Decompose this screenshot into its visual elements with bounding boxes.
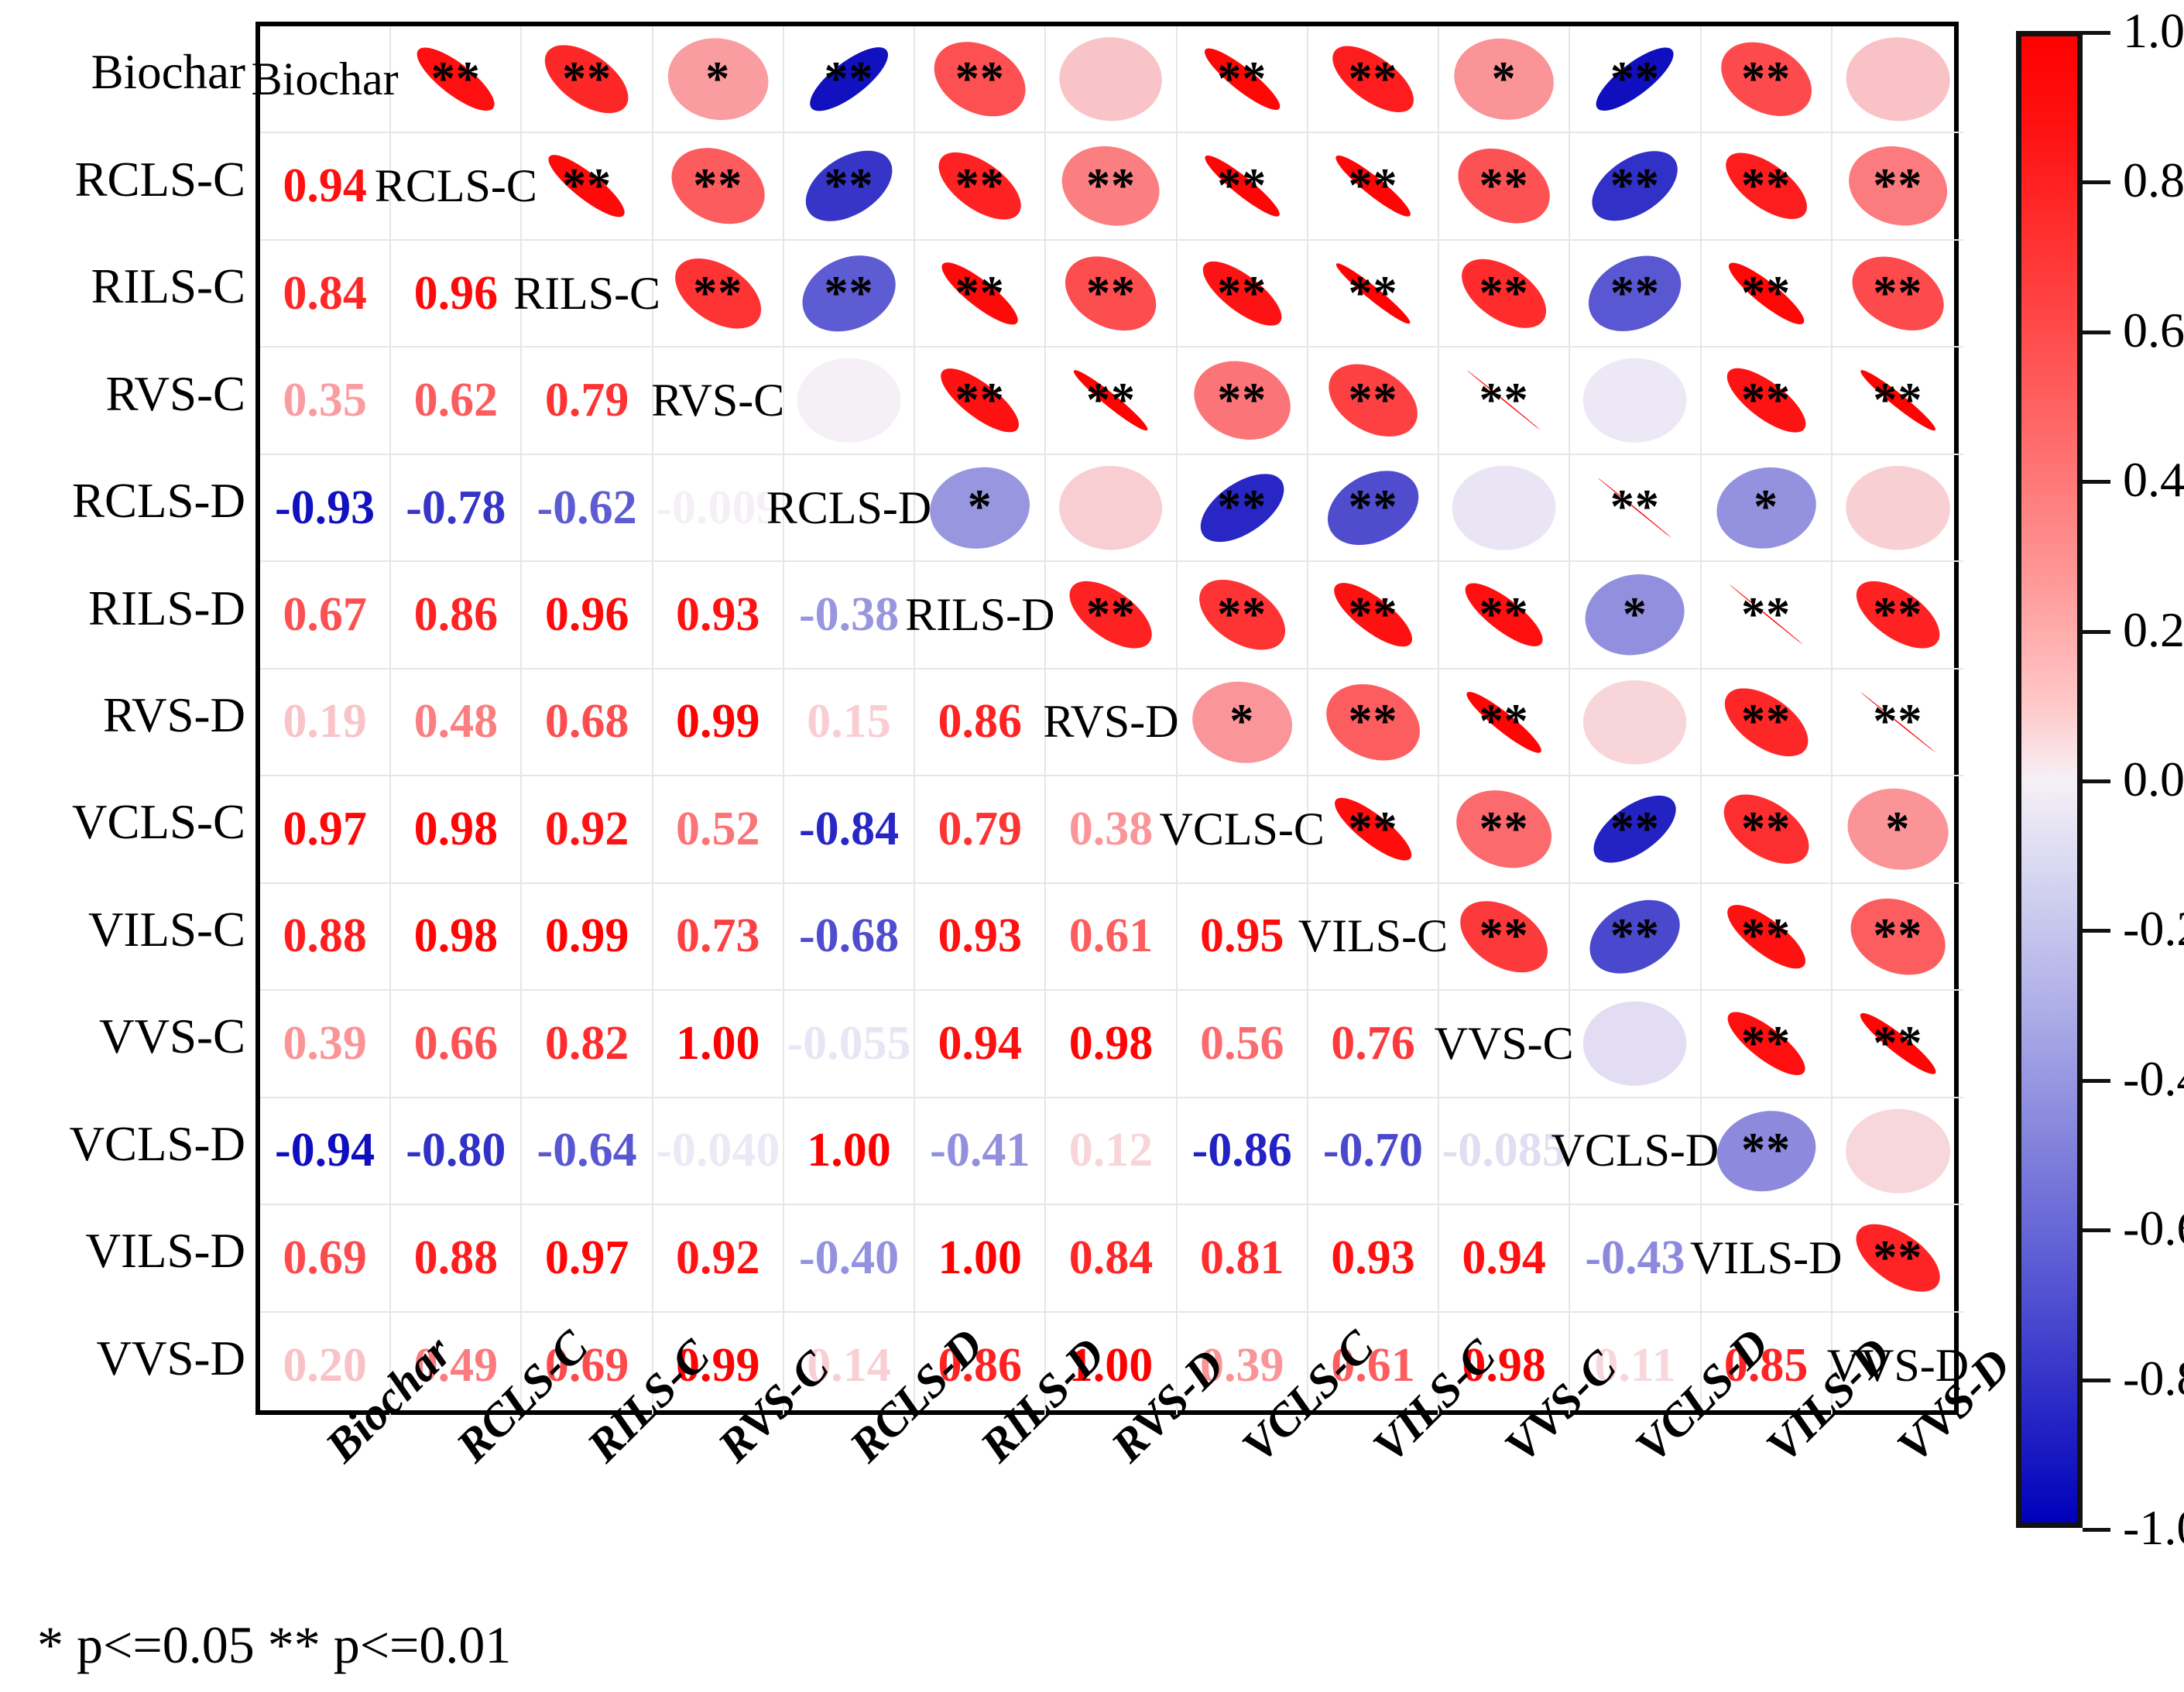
value-cell: 0.96 xyxy=(391,241,522,348)
significance-stars: ** xyxy=(1741,601,1791,629)
ellipse-cell xyxy=(784,348,915,454)
correlation-value: 0.97 xyxy=(283,802,367,857)
colorbar-tick-mark xyxy=(2083,1228,2110,1232)
value-cell: 0.15 xyxy=(784,670,915,776)
correlation-value: 0.73 xyxy=(676,909,760,964)
ellipse-cell: ** xyxy=(1439,884,1570,991)
correlation-value: 0.66 xyxy=(414,1016,499,1071)
value-cell: 0.84 xyxy=(1046,1205,1177,1312)
value-cell: -0.68 xyxy=(784,884,915,991)
significance-stars: ** xyxy=(1873,172,1922,200)
value-cell: 0.94 xyxy=(915,991,1046,1098)
ellipse-cell: ** xyxy=(915,26,1046,133)
correlation-value: -0.40 xyxy=(799,1231,899,1286)
ellipse-cell: ** xyxy=(1833,670,1963,776)
correlation-value: 0.92 xyxy=(676,1231,760,1286)
value-cell: -0.80 xyxy=(391,1098,522,1205)
ellipse-cell: ** xyxy=(1833,1205,1963,1312)
correlation-value: -0.62 xyxy=(537,481,636,536)
correlation-ellipse xyxy=(1570,348,1699,453)
value-cell: -0.38 xyxy=(784,562,915,669)
row-label-rils-d: RILS-D xyxy=(88,584,245,633)
value-cell: 0.84 xyxy=(260,241,391,348)
value-cell: -0.055 xyxy=(784,991,915,1098)
significance-stars: ** xyxy=(1217,65,1267,94)
ellipse-cell: ** xyxy=(1178,455,1308,562)
diagonal-label: VCLS-C xyxy=(1160,803,1325,856)
diagonal-label: VILS-C xyxy=(1298,909,1448,963)
row-label-rvs-d: RVS-D xyxy=(103,691,245,740)
significance-stars: ** xyxy=(1610,815,1660,844)
value-cell: -0.93 xyxy=(260,455,391,562)
correlation-value: 0.48 xyxy=(414,694,499,749)
colorbar-tick-label: -0.8 xyxy=(2123,1350,2184,1407)
correlation-value: 0.88 xyxy=(414,1231,499,1286)
correlation-ellipse xyxy=(1833,26,1963,132)
ellipse-cell: ** xyxy=(1833,991,1963,1098)
ellipse-cell xyxy=(1046,26,1177,133)
colorbar-tick-label: -0.4 xyxy=(2123,1050,2184,1108)
ellipse-cell: ** xyxy=(1439,776,1570,883)
ellipse-cell: ** xyxy=(784,26,915,133)
value-cell: 0.94 xyxy=(260,133,391,240)
correlation-value: 0.96 xyxy=(545,587,629,642)
ellipse-cell: ** xyxy=(1702,241,1833,348)
ellipse-cell: ** xyxy=(1308,776,1439,883)
ellipse-cell: ** xyxy=(784,241,915,348)
colorbar-tick-label: 0.4 xyxy=(2123,451,2184,509)
value-cell: 0.56 xyxy=(1178,991,1308,1098)
value-cell: 0.35 xyxy=(260,348,391,454)
ellipse-cell: ** xyxy=(1439,241,1570,348)
ellipse-cell: ** xyxy=(1702,1098,1833,1205)
ellipse-cell: * xyxy=(1178,670,1308,776)
ellipse-cell: ** xyxy=(1178,133,1308,240)
value-cell: 0.98 xyxy=(391,776,522,883)
correlation-value: 0.69 xyxy=(283,1231,367,1286)
correlation-value: 0.86 xyxy=(938,694,1023,749)
ellipse-cell: * xyxy=(1833,776,1963,883)
ellipse-cell: ** xyxy=(1308,133,1439,240)
value-cell: 0.92 xyxy=(653,1205,784,1312)
significance-stars: ** xyxy=(1741,65,1791,94)
value-cell: 0.98 xyxy=(391,884,522,991)
significance-stars: ** xyxy=(1479,172,1529,200)
correlation-value: 0.61 xyxy=(1069,909,1154,964)
value-cell: 0.73 xyxy=(653,884,784,991)
correlation-matrix-plot: Biochar******************0.94RCLS-C*****… xyxy=(255,22,1959,1415)
ellipse-cell: ** xyxy=(915,348,1046,454)
value-cell: 0.79 xyxy=(522,348,653,454)
correlation-value: -0.009 xyxy=(656,481,780,536)
correlation-value: 0.92 xyxy=(545,802,629,857)
correlation-value: 0.93 xyxy=(1331,1231,1415,1286)
significance-stars: ** xyxy=(1348,65,1397,94)
ellipse-cell: ** xyxy=(1046,348,1177,454)
correlation-value: 0.67 xyxy=(283,587,367,642)
significance-stars: ** xyxy=(1873,279,1922,308)
correlation-value: 0.52 xyxy=(676,802,760,857)
significance-stars: ** xyxy=(1873,1244,1922,1272)
ellipse-cell: ** xyxy=(1570,26,1701,133)
correlation-matrix-figure: BiocharRCLS-CRILS-CRVS-CRCLS-DRILS-DRVS-… xyxy=(0,0,2184,1692)
correlation-value: 0.35 xyxy=(283,373,367,428)
value-cell: 0.92 xyxy=(522,776,653,883)
correlation-ellipse xyxy=(1439,455,1569,560)
ellipse-cell xyxy=(1833,1098,1963,1205)
matrix-cell-grid: Biochar******************0.94RCLS-C*****… xyxy=(260,26,1954,1410)
significance-stars: ** xyxy=(1741,922,1791,950)
ellipse-cell: ** xyxy=(391,26,522,133)
correlation-value: 0.96 xyxy=(414,266,499,321)
correlation-ellipse xyxy=(784,348,914,453)
value-cell: 0.38 xyxy=(1046,776,1177,883)
significance-stars: ** xyxy=(431,65,481,94)
diagonal-label: RVS-C xyxy=(651,374,784,427)
value-cell: 0.39 xyxy=(260,991,391,1098)
value-cell: 0.62 xyxy=(391,348,522,454)
significance-stars: ** xyxy=(1348,172,1397,200)
diagonal-cell-vvs-c: VVS-C xyxy=(1439,991,1570,1098)
row-labels: BiocharRCLS-CRILS-CRVS-CRCLS-DRILS-DRVS-… xyxy=(0,19,252,1415)
significance-stars: ** xyxy=(1741,386,1791,415)
correlation-value: -0.68 xyxy=(799,909,899,964)
correlation-value: 0.81 xyxy=(1200,1231,1284,1286)
colorbar-tick-label: 0.8 xyxy=(2123,152,2184,209)
significance-stars: ** xyxy=(1741,1029,1791,1058)
value-cell: 0.76 xyxy=(1308,991,1439,1098)
value-cell: -0.43 xyxy=(1570,1205,1701,1312)
value-cell: 0.82 xyxy=(522,991,653,1098)
significance-stars: ** xyxy=(562,172,612,200)
ellipse-cell: ** xyxy=(1702,26,1833,133)
diagonal-label: VCLS-D xyxy=(1551,1124,1719,1177)
value-cell: 0.96 xyxy=(522,562,653,669)
significance-stars: * xyxy=(968,493,993,522)
row-label-vcls-d: VCLS-D xyxy=(69,1120,245,1169)
significance-stars: ** xyxy=(825,172,874,200)
row-label-rils-c: RILS-C xyxy=(91,262,245,311)
correlation-value: 0.97 xyxy=(545,1231,629,1286)
correlation-ellipse xyxy=(1046,26,1175,132)
value-cell: 0.94 xyxy=(1439,1205,1570,1312)
ellipse-cell: ** xyxy=(1702,991,1833,1098)
significance-stars: ** xyxy=(1086,279,1136,308)
colorbar-tick-mark xyxy=(2083,1528,2110,1532)
colorbar-tick-mark xyxy=(2083,180,2110,184)
ellipse-cell: ** xyxy=(1046,562,1177,669)
value-cell: 1.00 xyxy=(915,1205,1046,1312)
correlation-value: 0.76 xyxy=(1331,1016,1415,1071)
correlation-value: 1.00 xyxy=(676,1016,760,1071)
significance-footnote: * p<=0.05 ** p<=0.01 xyxy=(37,1615,511,1676)
ellipse-cell: ** xyxy=(1570,884,1701,991)
correlation-value: -0.86 xyxy=(1192,1123,1292,1178)
colorbar-gradient xyxy=(2016,31,2083,1528)
value-cell: 1.00 xyxy=(653,991,784,1098)
correlation-value: 0.39 xyxy=(283,1016,367,1071)
value-cell: 0.99 xyxy=(522,884,653,991)
significance-stars: ** xyxy=(1479,279,1529,308)
colorbar-ticks: 1.00.80.60.40.20.0-0.2-0.4-0.6-0.8-1.0 xyxy=(2083,31,2184,1528)
ellipse-cell: ** xyxy=(915,133,1046,240)
value-cell: 0.86 xyxy=(915,670,1046,776)
correlation-value: 0.68 xyxy=(545,694,629,749)
diagonal-cell-vils-d: VILS-D xyxy=(1702,1205,1833,1312)
ellipse-cell: ** xyxy=(1570,455,1701,562)
diagonal-label: RILS-C xyxy=(513,267,660,320)
ellipse-cell: ** xyxy=(1439,670,1570,776)
ellipse-cell: ** xyxy=(784,133,915,240)
significance-stars: * xyxy=(1229,707,1254,736)
ellipse-cell xyxy=(1570,670,1701,776)
colorbar-tick-mark xyxy=(2083,779,2110,783)
ellipse-cell: ** xyxy=(1833,241,1963,348)
significance-stars: ** xyxy=(1217,386,1267,415)
ellipse-cell: * xyxy=(1702,455,1833,562)
value-cell: 0.52 xyxy=(653,776,784,883)
colorbar-tick-label: 0.6 xyxy=(2123,302,2184,359)
correlation-value: -0.38 xyxy=(799,587,899,642)
correlation-value: 0.84 xyxy=(1069,1231,1154,1286)
ellipse-cell: ** xyxy=(1178,26,1308,133)
significance-stars: ** xyxy=(1086,172,1136,200)
correlation-ellipse xyxy=(1046,455,1175,560)
correlation-value: 0.82 xyxy=(545,1016,629,1071)
diagonal-cell-vcls-d: VCLS-D xyxy=(1570,1098,1701,1205)
ellipse-cell: ** xyxy=(1046,241,1177,348)
significance-stars: ** xyxy=(1348,815,1397,844)
value-cell: 0.97 xyxy=(260,776,391,883)
ellipse-cell xyxy=(1046,455,1177,562)
significance-stars: ** xyxy=(955,386,1005,415)
significance-stars: ** xyxy=(825,65,874,94)
value-cell: 0.81 xyxy=(1178,1205,1308,1312)
value-cell: 0.69 xyxy=(260,1205,391,1312)
diagonal-cell-rils-c: RILS-C xyxy=(522,241,653,348)
value-cell: -0.41 xyxy=(915,1098,1046,1205)
colorbar-tick-label: 1.0 xyxy=(2123,2,2184,60)
significance-stars: ** xyxy=(1741,1136,1791,1165)
significance-stars: * xyxy=(1492,65,1517,94)
significance-stars: ** xyxy=(1873,707,1922,736)
correlation-value: 0.15 xyxy=(807,694,891,749)
value-cell: 0.86 xyxy=(391,562,522,669)
correlation-value: -0.43 xyxy=(1585,1231,1685,1286)
ellipse-cell: ** xyxy=(1702,884,1833,991)
value-cell: 0.99 xyxy=(653,670,784,776)
significance-stars: ** xyxy=(1479,922,1529,950)
value-cell: 0.66 xyxy=(391,991,522,1098)
ellipse-cell: ** xyxy=(653,133,784,240)
correlation-value: -0.70 xyxy=(1323,1123,1423,1178)
value-cell: -0.84 xyxy=(784,776,915,883)
correlation-value: 0.94 xyxy=(1462,1231,1546,1286)
significance-stars: ** xyxy=(1741,279,1791,308)
ellipse-cell: ** xyxy=(1439,348,1570,454)
correlation-value: 1.00 xyxy=(807,1123,891,1178)
ellipse-cell: * xyxy=(1439,26,1570,133)
colorbar-tick-mark xyxy=(2083,929,2110,933)
significance-stars: ** xyxy=(1086,386,1136,415)
correlation-value: 0.94 xyxy=(938,1016,1023,1071)
value-cell: -0.70 xyxy=(1308,1098,1439,1205)
colorbar-tick-label: 0.0 xyxy=(2123,751,2184,808)
row-label-rcls-c: RCLS-C xyxy=(74,156,245,204)
row-label-vils-c: VILS-C xyxy=(88,906,245,954)
value-cell: 0.98 xyxy=(1046,991,1177,1098)
correlation-value: 0.56 xyxy=(1200,1016,1284,1071)
significance-stars: ** xyxy=(1741,172,1791,200)
ellipse-cell: ** xyxy=(1702,133,1833,240)
significance-stars: ** xyxy=(693,172,742,200)
ellipse-cell: * xyxy=(915,455,1046,562)
correlation-value: 0.84 xyxy=(283,266,367,321)
significance-stars: * xyxy=(1623,601,1647,629)
significance-stars: ** xyxy=(1086,601,1136,629)
correlation-value: -0.84 xyxy=(799,802,899,857)
correlation-ellipse xyxy=(1570,670,1699,775)
row-label-vcls-c: VCLS-C xyxy=(72,798,245,847)
ellipse-cell: ** xyxy=(1178,241,1308,348)
ellipse-cell: ** xyxy=(1178,348,1308,454)
ellipse-cell: ** xyxy=(1308,455,1439,562)
significance-stars: ** xyxy=(1479,601,1529,629)
ellipse-cell: ** xyxy=(1570,133,1701,240)
row-label-rcls-d: RCLS-D xyxy=(72,477,245,526)
diagonal-cell-rvs-d: RVS-D xyxy=(1046,670,1177,776)
value-cell: 0.12 xyxy=(1046,1098,1177,1205)
row-label-vvs-d: VVS-D xyxy=(96,1334,245,1383)
ellipse-cell: ** xyxy=(1570,241,1701,348)
correlation-value: 0.93 xyxy=(676,587,760,642)
diagonal-label: RCLS-C xyxy=(375,159,537,213)
colorbar-tick-mark xyxy=(2083,31,2110,35)
ellipse-cell: * xyxy=(1570,562,1701,669)
significance-stars: ** xyxy=(1741,707,1791,736)
colorbar-tick-label: -0.6 xyxy=(2123,1200,2184,1257)
ellipse-cell: ** xyxy=(522,26,653,133)
ellipse-cell: ** xyxy=(915,241,1046,348)
value-cell: 0.67 xyxy=(260,562,391,669)
significance-stars: ** xyxy=(562,65,612,94)
value-cell: 0.79 xyxy=(915,776,1046,883)
correlation-value: 0.38 xyxy=(1069,802,1154,857)
significance-stars: ** xyxy=(1873,922,1922,950)
significance-stars: ** xyxy=(955,65,1005,94)
correlation-ellipse xyxy=(1570,991,1699,1096)
correlation-value: -0.78 xyxy=(406,481,506,536)
correlation-value: -0.64 xyxy=(537,1123,636,1178)
diagonal-label: VVS-C xyxy=(1435,1017,1574,1070)
row-label-vils-d: VILS-D xyxy=(86,1227,245,1276)
ellipse-cell: ** xyxy=(1439,133,1570,240)
correlation-value: -0.93 xyxy=(275,481,375,536)
ellipse-cell: ** xyxy=(1308,26,1439,133)
correlation-value: 0.20 xyxy=(283,1338,367,1393)
significance-stars: ** xyxy=(1479,707,1529,736)
ellipse-cell: ** xyxy=(1439,562,1570,669)
ellipse-cell: ** xyxy=(1833,562,1963,669)
significance-stars: ** xyxy=(1348,601,1397,629)
correlation-value: 0.99 xyxy=(545,909,629,964)
ellipse-cell: ** xyxy=(1308,670,1439,776)
value-cell: -0.78 xyxy=(391,455,522,562)
significance-stars: ** xyxy=(1348,386,1397,415)
significance-stars: ** xyxy=(1479,815,1529,844)
value-cell: 0.61 xyxy=(1046,884,1177,991)
row-label-vvs-c: VVS-C xyxy=(99,1012,245,1061)
ellipse-cell: ** xyxy=(522,133,653,240)
significance-stars: ** xyxy=(1873,386,1922,415)
ellipse-cell xyxy=(1833,26,1963,133)
ellipse-cell: ** xyxy=(1702,776,1833,883)
diagonal-label: RILS-D xyxy=(905,588,1054,642)
significance-stars: ** xyxy=(1348,493,1397,522)
colorbar-tick-mark xyxy=(2083,480,2110,484)
correlation-value: 0.98 xyxy=(1069,1016,1154,1071)
colorbar-tick-label: -0.2 xyxy=(2123,900,2184,957)
significance-stars: ** xyxy=(1610,172,1660,200)
correlation-value: 0.98 xyxy=(414,802,499,857)
correlation-value: 0.12 xyxy=(1069,1123,1154,1178)
significance-stars: * xyxy=(1885,815,1910,844)
diagonal-label: RVS-D xyxy=(1043,695,1178,748)
ellipse-cell: ** xyxy=(1570,776,1701,883)
correlation-value: -0.085 xyxy=(1442,1123,1566,1178)
colorbar-tick-mark xyxy=(2083,1079,2110,1083)
column-labels: BiocharRCLS-CRILS-CRVS-CRCLS-DRILS-DRVS-… xyxy=(255,1424,1959,1610)
value-cell: 0.19 xyxy=(260,670,391,776)
correlation-value: -0.055 xyxy=(787,1016,910,1071)
value-cell: 0.93 xyxy=(915,884,1046,991)
correlation-value: 0.95 xyxy=(1200,909,1284,964)
correlation-value: 0.98 xyxy=(414,909,499,964)
correlation-value: 1.00 xyxy=(938,1231,1023,1286)
value-cell: 0.68 xyxy=(522,670,653,776)
value-cell: -0.94 xyxy=(260,1098,391,1205)
correlation-value: 0.88 xyxy=(283,909,367,964)
ellipse-cell: ** xyxy=(1702,670,1833,776)
value-cell: -0.86 xyxy=(1178,1098,1308,1205)
ellipse-cell: ** xyxy=(1833,884,1963,991)
value-cell: 0.95 xyxy=(1178,884,1308,991)
ellipse-cell: ** xyxy=(1833,348,1963,454)
value-cell: -0.040 xyxy=(653,1098,784,1205)
colorbar-tick-label: -1.0 xyxy=(2123,1499,2184,1557)
colorbar-tick-mark xyxy=(2083,1379,2110,1382)
ellipse-cell xyxy=(1833,455,1963,562)
ellipse-cell: ** xyxy=(1178,562,1308,669)
significance-stars: * xyxy=(705,65,730,94)
diagonal-label: VILS-D xyxy=(1690,1231,1843,1285)
significance-stars: ** xyxy=(1479,386,1529,415)
diagonal-label: Biochar xyxy=(252,53,399,106)
significance-stars: * xyxy=(1754,493,1778,522)
significance-stars: ** xyxy=(1217,279,1267,308)
significance-stars: ** xyxy=(955,279,1005,308)
significance-stars: ** xyxy=(955,172,1005,200)
ellipse-cell xyxy=(1570,991,1701,1098)
correlation-value: 0.93 xyxy=(938,909,1023,964)
significance-stars: ** xyxy=(1873,601,1922,629)
colorbar-tick-label: 0.2 xyxy=(2123,601,2184,659)
ellipse-cell xyxy=(1570,348,1701,454)
ellipse-cell: ** xyxy=(1702,348,1833,454)
significance-stars: ** xyxy=(825,279,874,308)
diagonal-cell-biochar: Biochar xyxy=(260,26,391,133)
row-label-rvs-c: RVS-C xyxy=(105,370,245,419)
